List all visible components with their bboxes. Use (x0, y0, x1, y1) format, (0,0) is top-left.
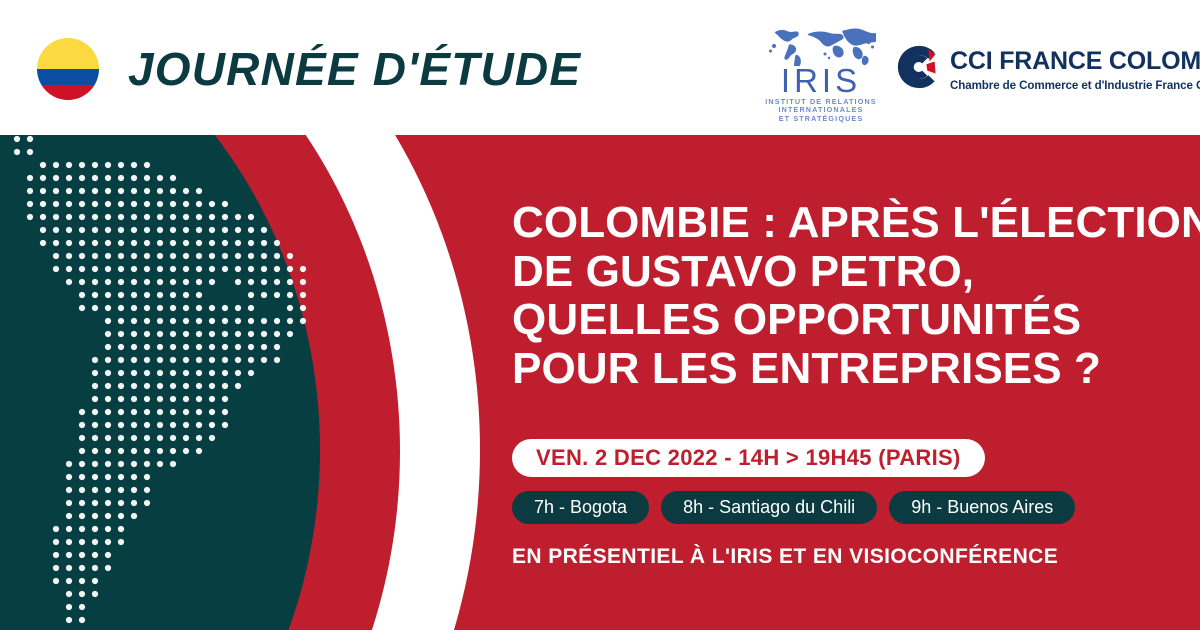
city-time-buenos-aires: 9h - Buenos Aires (889, 491, 1075, 524)
city-time-bogota: 7h - Bogota (512, 491, 649, 524)
event-poster: JOURNÉE D'ÉTUDE IRIS (0, 0, 1200, 630)
cci-circle-mark-icon (896, 44, 942, 90)
event-headline: COLOMBIE : APRÈS L'ÉLECTION DE GUSTAVO P… (512, 199, 1180, 393)
page-title: JOURNÉE D'ÉTUDE (128, 39, 581, 99)
colombia-flag-icon (37, 38, 99, 100)
city-time-santiago: 8h - Santiago du Chili (661, 491, 877, 524)
headline-line-3: QUELLES OPPORTUNITÉS (512, 296, 1180, 345)
poster-header: JOURNÉE D'ÉTUDE IRIS (0, 0, 1200, 135)
dotted-south-america-map-icon (0, 135, 480, 630)
city-times-row: 7h - Bogota 8h - Santiago du Chili 9h - … (512, 491, 1075, 524)
headline-line-1: COLOMBIE : APRÈS L'ÉLECTION (512, 199, 1180, 248)
poster-body: COLOMBIE : APRÈS L'ÉLECTION DE GUSTAVO P… (0, 135, 1200, 630)
headline-line-2: DE GUSTAVO PETRO, (512, 248, 1180, 297)
iris-wordmark: IRIS (762, 64, 880, 97)
cci-france-colombia-logo[interactable]: CCI FRANCE COLOMBIA Chambre de Commerce … (896, 44, 1168, 100)
iris-subtitle: INSTITUT DE RELATIONS INTERNATIONALES ET… (762, 98, 880, 123)
cci-tagline: Chambre de Commerce et d'Industrie Franc… (950, 79, 1200, 93)
iris-subtitle-line-3: ET STRATÉGIQUES (762, 115, 880, 123)
headline-line-4: POUR LES ENTREPRISES ? (512, 345, 1180, 394)
cci-name: CCI FRANCE COLOMBIA (950, 47, 1200, 75)
attendance-note: EN PRÉSENTIEL À L'IRIS ET EN VISIOCONFÉR… (512, 545, 1058, 569)
date-badge: VEN. 2 DEC 2022 - 14H > 19H45 (PARIS) (512, 439, 985, 477)
world-map-icon (766, 24, 876, 66)
iris-logo[interactable]: IRIS INSTITUT DE RELATIONS INTERNATIONAL… (762, 24, 880, 116)
event-details: COLOMBIE : APRÈS L'ÉLECTION DE GUSTAVO P… (512, 135, 1182, 630)
